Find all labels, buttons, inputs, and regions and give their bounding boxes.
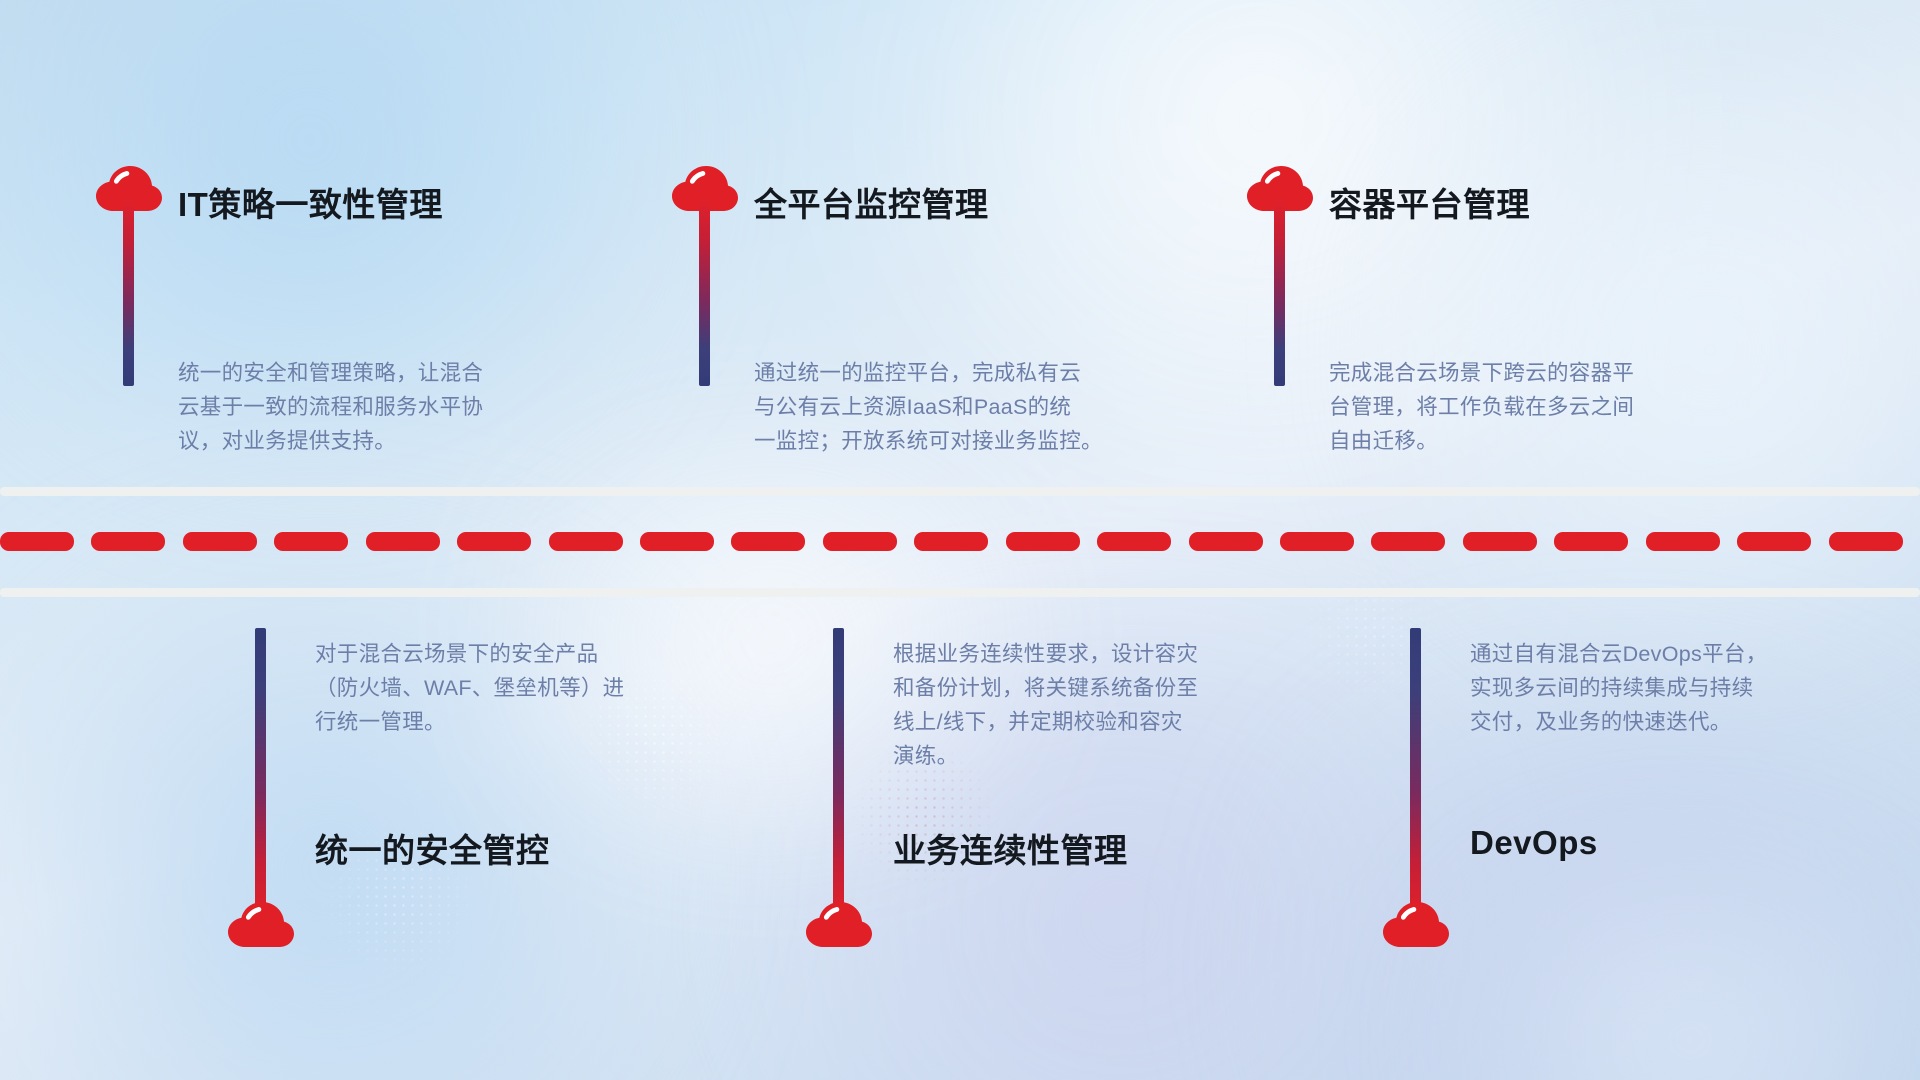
road-dash xyxy=(1829,532,1903,551)
feature-title: 容器平台管理 xyxy=(1329,178,1530,226)
cloud-icon xyxy=(806,896,872,948)
road-dash xyxy=(0,532,74,551)
body-line: 通过自有混合云DevOps平台， xyxy=(1470,637,1890,671)
road-dash xyxy=(1097,532,1171,551)
body-line: 一监控；开放系统可对接业务监控。 xyxy=(754,424,1204,458)
feature-body: 统一的安全和管理策略，让混合 云基于一致的流程和服务水平协 议，对业务提供支持。 xyxy=(178,356,608,458)
cloud-icon xyxy=(228,896,294,948)
connector-stem xyxy=(1410,628,1421,914)
road-dash xyxy=(549,532,623,551)
feature-title: IT策略一致性管理 xyxy=(178,178,443,226)
road-line-top xyxy=(0,487,1920,496)
road-dash xyxy=(1006,532,1080,551)
body-line: 交付，及业务的快速迭代。 xyxy=(1470,705,1890,739)
road-line-bottom xyxy=(0,588,1920,597)
road-dash xyxy=(823,532,897,551)
road-dash xyxy=(183,532,257,551)
feature-body: 根据业务连续性要求，设计容灾 和备份计划，将关键系统备份至 线上/线下，并定期校… xyxy=(893,637,1323,773)
road-dash xyxy=(640,532,714,551)
body-line: 对于混合云场景下的安全产品 xyxy=(315,637,745,671)
connector-stem xyxy=(1274,200,1285,386)
road-dashes xyxy=(0,532,1920,552)
road-dash xyxy=(1737,532,1811,551)
body-line: 统一的安全和管理策略，让混合 xyxy=(178,356,608,390)
feature-body: 对于混合云场景下的安全产品 （防火墙、WAF、堡垒机等）进 行统一管理。 xyxy=(315,637,745,739)
body-line: 云基于一致的流程和服务水平协 xyxy=(178,390,608,424)
connector-stem xyxy=(123,200,134,386)
road-dash xyxy=(914,532,988,551)
body-line: 完成混合云场景下跨云的容器平 xyxy=(1329,356,1759,390)
body-line: 实现多云间的持续集成与持续 xyxy=(1470,671,1890,705)
feature-title: 统一的安全管控 xyxy=(315,824,550,872)
feature-title: 全平台监控管理 xyxy=(754,178,989,226)
road-dash xyxy=(731,532,805,551)
feature-body: 通过统一的监控平台，完成私有云 与公有云上资源IaaS和PaaS的统 一监控；开… xyxy=(754,356,1204,458)
road-dash xyxy=(1371,532,1445,551)
connector-stem xyxy=(255,628,266,914)
road-dash xyxy=(1189,532,1263,551)
road-dash xyxy=(274,532,348,551)
road-dash xyxy=(1554,532,1628,551)
body-line: 与公有云上资源IaaS和PaaS的统 xyxy=(754,390,1204,424)
road-dash xyxy=(1463,532,1537,551)
body-line: （防火墙、WAF、堡垒机等）进 xyxy=(315,671,745,705)
body-line: 议，对业务提供支持。 xyxy=(178,424,608,458)
cloud-icon xyxy=(1383,896,1449,948)
road-dash xyxy=(1280,532,1354,551)
body-line: 和备份计划，将关键系统备份至 xyxy=(893,671,1323,705)
body-line: 行统一管理。 xyxy=(315,705,745,739)
body-line: 台管理，将工作负载在多云之间 xyxy=(1329,390,1759,424)
body-line: 通过统一的监控平台，完成私有云 xyxy=(754,356,1204,390)
body-line: 演练。 xyxy=(893,739,1323,773)
connector-stem xyxy=(833,628,844,914)
feature-title: DevOps xyxy=(1470,824,1598,862)
road-dash xyxy=(457,532,531,551)
road-dash xyxy=(1646,532,1720,551)
road-dash xyxy=(91,532,165,551)
connector-stem xyxy=(699,200,710,386)
road-dash xyxy=(366,532,440,551)
feature-title: 业务连续性管理 xyxy=(893,824,1128,872)
feature-body: 完成混合云场景下跨云的容器平 台管理，将工作负载在多云之间 自由迁移。 xyxy=(1329,356,1759,458)
body-line: 线上/线下，并定期校验和容灾 xyxy=(893,705,1323,739)
body-line: 根据业务连续性要求，设计容灾 xyxy=(893,637,1323,671)
feature-body: 通过自有混合云DevOps平台， 实现多云间的持续集成与持续 交付，及业务的快速… xyxy=(1470,637,1890,739)
body-line: 自由迁移。 xyxy=(1329,424,1759,458)
road-divider xyxy=(0,487,1920,597)
